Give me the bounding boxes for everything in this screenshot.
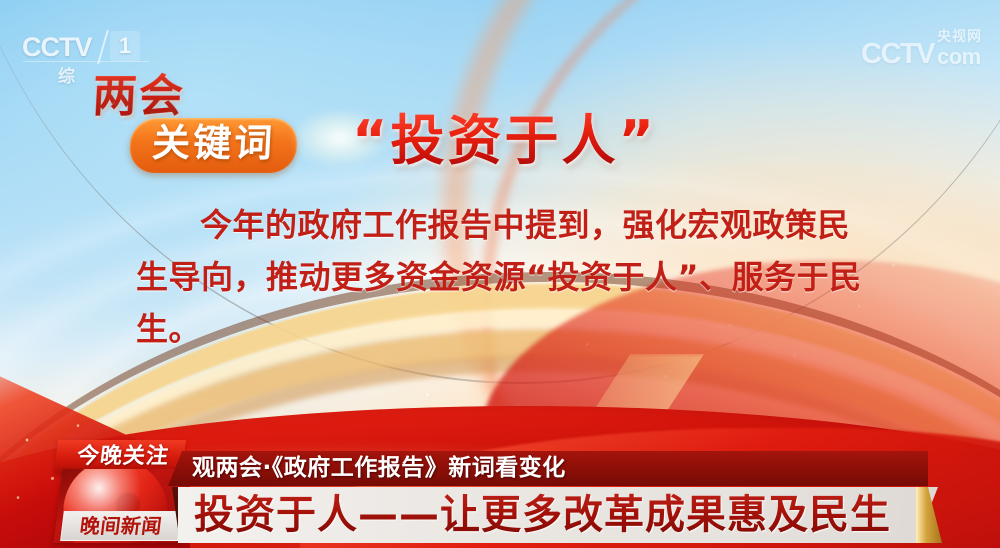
cctvcom-row: CCTV 央视网 com [861, 30, 982, 69]
subtitle-text: 观两会·《政府工作报告》新词看变化 [192, 454, 566, 482]
body-paragraph: 今年的政府工作报告中提到，强化宏观政策民生导向，推动更多资金资源“投资于人”、服… [136, 200, 862, 355]
segment-badge-label: 今晚关注 [60, 443, 185, 471]
topic-badge-lianghui: 两会 [91, 60, 186, 124]
keyword-badge: 关键词 [129, 118, 299, 173]
program-badge-label: 晚间新闻 [60, 513, 181, 539]
headline-text: 投资于人——让更多改革成果惠及民生 [194, 490, 891, 540]
lower-third: 今晚关注 晚间新闻 观两会·《政府工作报告》新词看变化 投资于人——让更多改革成… [0, 438, 1000, 548]
cctvcom-right-stack: 央视网 com [937, 30, 982, 68]
cctvcom-chinese-label: 央视网 [937, 30, 982, 44]
page-title: “投资于人” [352, 110, 657, 172]
cctvcom-tld: com [937, 46, 982, 68]
cctv-logo-slash [97, 30, 109, 64]
cctvcom-watermark: CCTV 央视网 com [861, 30, 982, 69]
cctvcom-brand: CCTV [861, 40, 934, 69]
cctv-wordmark: CCTV [22, 32, 92, 63]
channel-number: 1 [110, 31, 140, 61]
broadcast-screenshot: CCTV 1 综 CCTV 央视网 com 两会 关键词 “投资于人” 今年的政… [0, 0, 1000, 548]
channel-sub-label: 综 [58, 62, 75, 87]
headline-bar-gold-edge [916, 487, 942, 543]
